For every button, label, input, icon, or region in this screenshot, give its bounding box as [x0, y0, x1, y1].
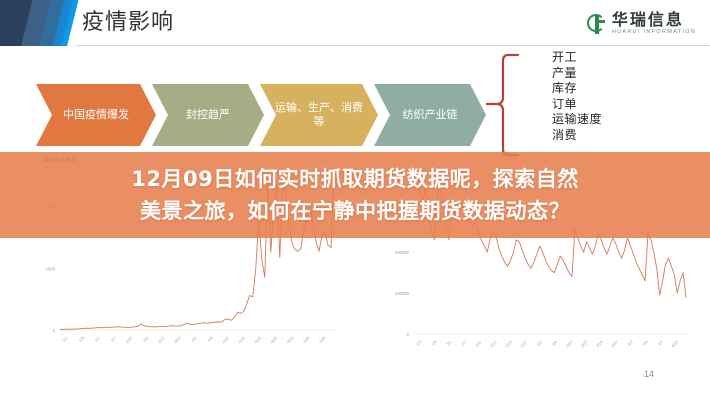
svg-text:200000: 200000 [395, 250, 410, 255]
svg-text:4/2: 4/2 [626, 339, 634, 347]
svg-text:4/16: 4/16 [237, 335, 246, 345]
svg-text:2/22: 2/22 [124, 335, 133, 345]
kpi-item-1: 产量 [552, 66, 602, 82]
process-flow: 中国疫情爆发 封控趋严 运输、生产、消费等 纺织产业链 [0, 84, 500, 150]
kpi-item-4: 运输速度 [552, 112, 602, 128]
flow-step-4: 纺织产业链 [374, 84, 486, 146]
slide-header: 疫情影响 华瑞信息 HUARUI INFORMATION [0, 0, 710, 46]
company-logo: 华瑞信息 HUARUI INFORMATION [587, 12, 696, 36]
svg-text:4/30: 4/30 [318, 335, 327, 345]
slide-root: 疫情影响 华瑞信息 HUARUI INFORMATION 中国疫情爆发 封控趋严… [0, 0, 710, 400]
page-number: 14 [644, 369, 654, 379]
svg-text:1000: 1000 [46, 266, 56, 271]
svg-text:3/16: 3/16 [595, 339, 604, 349]
svg-text:0: 0 [407, 332, 410, 337]
flow-step-2: 封控趋严 [152, 84, 264, 146]
svg-text:1/1: 1/1 [61, 335, 69, 343]
kpi-list: 开工 产量 库存 订单 运输速度 消费 [552, 50, 602, 143]
svg-text:2/7: 2/7 [460, 339, 468, 347]
kpi-item-5: 消费 [552, 128, 602, 144]
svg-text:4/1: 4/1 [190, 335, 198, 343]
logo-name-en: HUARUI INFORMATION [612, 30, 696, 36]
flow-step-3: 运输、生产、消费等 [260, 84, 378, 146]
svg-text:3/14: 3/14 [565, 339, 574, 349]
svg-text:3/22: 3/22 [173, 335, 182, 345]
svg-text:4/20: 4/20 [269, 335, 278, 345]
kpi-item-2: 库存 [552, 81, 602, 97]
overlay-title-line-2: 美景之旅，如何在宁静中把握期货数据动态？ [140, 195, 570, 227]
svg-text:1/8: 1/8 [78, 335, 86, 343]
logo-mark-icon [587, 13, 607, 35]
svg-text:3/2: 3/2 [142, 335, 150, 343]
svg-text:4/18: 4/18 [670, 339, 679, 349]
svg-text:2/1: 2/1 [94, 335, 102, 343]
logo-name-cn: 华瑞信息 [612, 12, 696, 28]
svg-text:2/20: 2/20 [504, 339, 513, 349]
overlay-title-line-1: 12月09日如何实时抓取期货数据呢，探索自然 [131, 163, 578, 195]
svg-text:2/12: 2/12 [489, 339, 498, 349]
svg-text:1/3: 1/3 [415, 339, 423, 347]
svg-text:3/8: 3/8 [551, 339, 559, 347]
svg-text:4/7: 4/7 [657, 339, 665, 347]
svg-text:3/12: 3/12 [157, 335, 166, 345]
svg-text:4/19: 4/19 [253, 335, 262, 345]
svg-text:1/8: 1/8 [430, 339, 438, 347]
svg-text:4/15: 4/15 [221, 335, 230, 345]
page-title: 疫情影响 [82, 8, 174, 38]
svg-text:4/28: 4/28 [302, 335, 311, 345]
svg-text:0: 0 [53, 328, 56, 333]
brace-connector-icon [486, 52, 520, 158]
svg-text:3/15: 3/15 [580, 339, 589, 349]
kpi-item-0: 开工 [552, 50, 602, 66]
svg-text:4/6: 4/6 [206, 335, 214, 343]
svg-text:2/1: 2/1 [445, 339, 453, 347]
svg-text:2/27: 2/27 [519, 339, 528, 349]
svg-text:2/11: 2/11 [474, 339, 483, 348]
overlay-title-banner: 12月09日如何实时抓取期货数据呢，探索自然 美景之旅，如何在宁静中把握期货数据… [0, 152, 710, 238]
flow-step-1: 中国疫情爆发 [36, 84, 156, 146]
svg-text:2/7: 2/7 [110, 335, 118, 343]
svg-text:3/20: 3/20 [610, 339, 619, 349]
svg-text:4/23: 4/23 [286, 335, 295, 345]
svg-text:4/6: 4/6 [642, 339, 650, 347]
header-divider [76, 45, 710, 46]
kpi-item-3: 订单 [552, 97, 602, 113]
svg-text:3/1: 3/1 [536, 339, 544, 347]
svg-text:100000: 100000 [395, 291, 410, 296]
